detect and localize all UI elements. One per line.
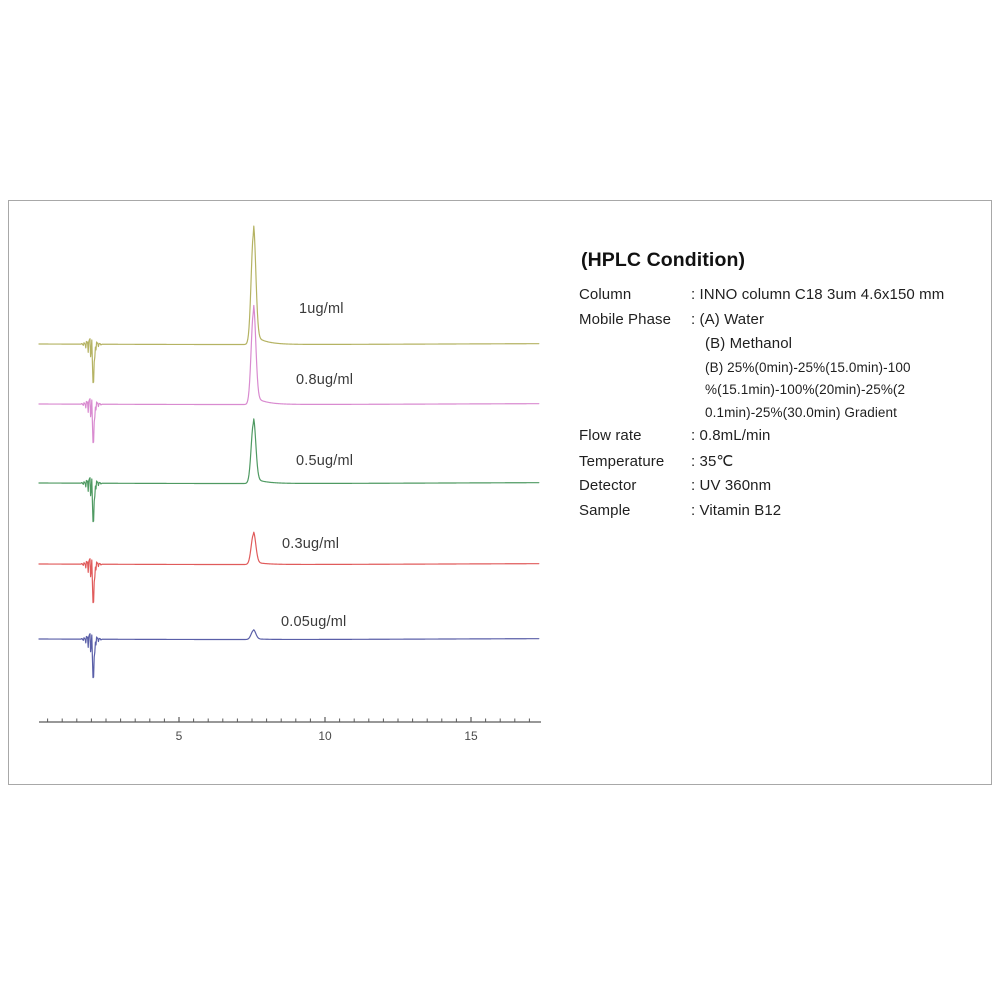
condition-label: Flow rate [579,427,691,444]
condition-label: Detector [579,477,691,494]
x-axis-tick-label: 5 [176,729,183,743]
figure-frame: 1ug/ml0.8ug/ml0.5ug/ml0.3ug/ml0.05ug/ml … [8,200,992,785]
hplc-conditions-panel: (HPLC Condition) Column: INNO column C18… [579,249,989,526]
condition-label: Temperature [579,453,691,470]
condition-row: Flow rate: 0.8mL/min [579,427,989,444]
condition-row: 0.1min)-25%(30.0min) Gradient [579,405,989,420]
condition-row: (B) 25%(0min)-25%(15.0min)-100 [579,360,989,375]
condition-label: Sample [579,502,691,519]
x-axis-tick-label: 10 [318,729,331,743]
condition-row: Column: INNO column C18 3um 4.6x150 mm [579,286,989,303]
chromatogram-panel: 1ug/ml0.8ug/ml0.5ug/ml0.3ug/ml0.05ug/ml … [9,201,569,784]
x-axis-tick-label: 15 [464,729,477,743]
condition-label: Mobile Phase [579,311,691,328]
condition-value: : 0.8mL/min [691,427,770,444]
condition-row: Mobile Phase: (A) Water [579,311,989,328]
trace-concentration-label: 0.8ug/ml [296,372,353,388]
conditions-title: (HPLC Condition) [581,249,989,272]
chromatogram-plot [9,201,569,784]
chromatogram-trace [39,305,539,442]
condition-value: : (A) Water [691,311,764,328]
chromatogram-trace [39,226,539,383]
condition-value: : Vitamin B12 [691,502,781,519]
condition-value: %(15.1min)-100%(20min)-25%(2 [691,382,905,397]
trace-concentration-label: 0.5ug/ml [296,453,353,469]
condition-row: Detector: UV 360nm [579,477,989,494]
condition-value: 0.1min)-25%(30.0min) Gradient [691,405,897,420]
condition-value: (B) 25%(0min)-25%(15.0min)-100 [691,360,911,375]
conditions-row-list: Column: INNO column C18 3um 4.6x150 mmMo… [579,286,989,519]
condition-value: : 35℃ [691,452,733,470]
condition-row: %(15.1min)-100%(20min)-25%(2 [579,382,989,397]
chromatogram-trace [39,630,539,678]
condition-label: Column [579,286,691,303]
trace-concentration-label: 0.3ug/ml [282,536,339,552]
condition-value: : INNO column C18 3um 4.6x150 mm [691,286,944,303]
condition-row: Temperature: 35℃ [579,452,989,470]
condition-row: Sample: Vitamin B12 [579,502,989,519]
condition-row: (B) Methanol [579,335,989,352]
trace-concentration-label: 0.05ug/ml [281,614,346,630]
condition-value: (B) Methanol [691,335,792,352]
trace-concentration-label: 1ug/ml [299,301,344,317]
condition-value: : UV 360nm [691,477,771,494]
chromatogram-trace [39,419,539,522]
